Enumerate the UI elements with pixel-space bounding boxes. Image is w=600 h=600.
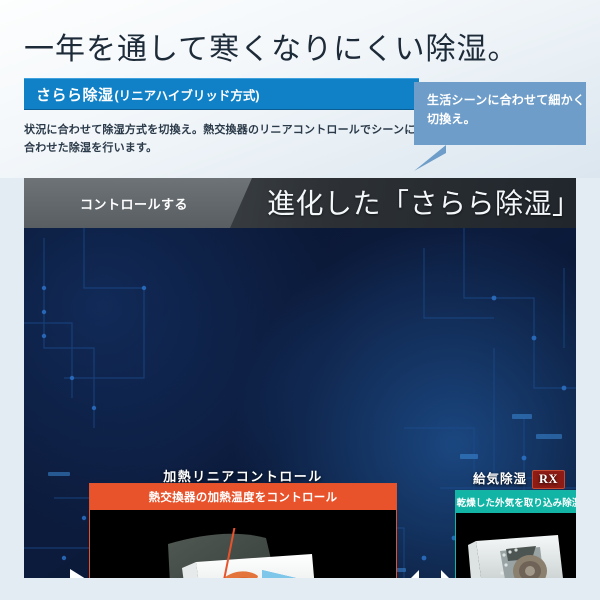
left-panel-orange-text: 熱交換器の加熱温度をコントロール [149,489,338,505]
arrow-left-right-icon [405,567,455,578]
right-panel-teal-text: 乾燥した外気を取り込み除湿 [457,495,576,509]
right-panel-title-text: 給気除湿 [473,472,527,486]
banner-title: 進化した「さらら除湿」 [267,182,576,222]
page-title: 一年を通して寒くなりにくい除湿。 [24,24,519,68]
infographic-page: 一年を通して寒くなりにくい除湿。 さらら除湿 (リニアハイブリッド方式) 状況に… [0,0,600,600]
left-panel: 熱交換器の加熱温度をコントロール [89,483,397,578]
dark-stage: 加熱リニアコントロール 熱交換器の加熱温度をコントロール [24,228,576,578]
callout-text: 生活シーンに合わせて細かく切換え。 [414,82,586,128]
section-banner: コントロールする 進化した「さらら除湿」 [24,178,576,228]
right-panel-title: 給気除湿RX [448,468,576,489]
feature-name-main: さらら除湿 [36,84,114,105]
banner-subtitle: コントロールする [80,194,188,213]
heat-exchanger-illustration [162,528,334,578]
header-section: 一年を通して寒くなりにくい除湿。 さらら除湿 (リニアハイブリッド方式) 状況に… [0,0,600,178]
feature-name-bar: さらら除湿 (リニアハイブリッド方式) [24,78,419,110]
feature-name-sub: (リニアハイブリッド方式) [115,85,260,104]
right-panel-teal-bar: 乾燥した外気を取り込み除湿 [456,491,576,513]
supply-air-illustration [466,525,574,578]
callout-balloon: 生活シーンに合わせて細かく切換え。 [414,82,586,145]
left-panel-orange-bar: 熱交換器の加熱温度をコントロール [90,484,396,510]
lead-paragraph: 状況に合わせて除湿方式を切換え。熱交換器のリニアコントロールでシーンに合わせた除… [24,121,424,157]
rx-badge: RX [532,470,565,489]
right-panel: 乾燥した外気を取り込み除湿 [455,490,576,578]
arrow-right-icon [24,569,94,578]
